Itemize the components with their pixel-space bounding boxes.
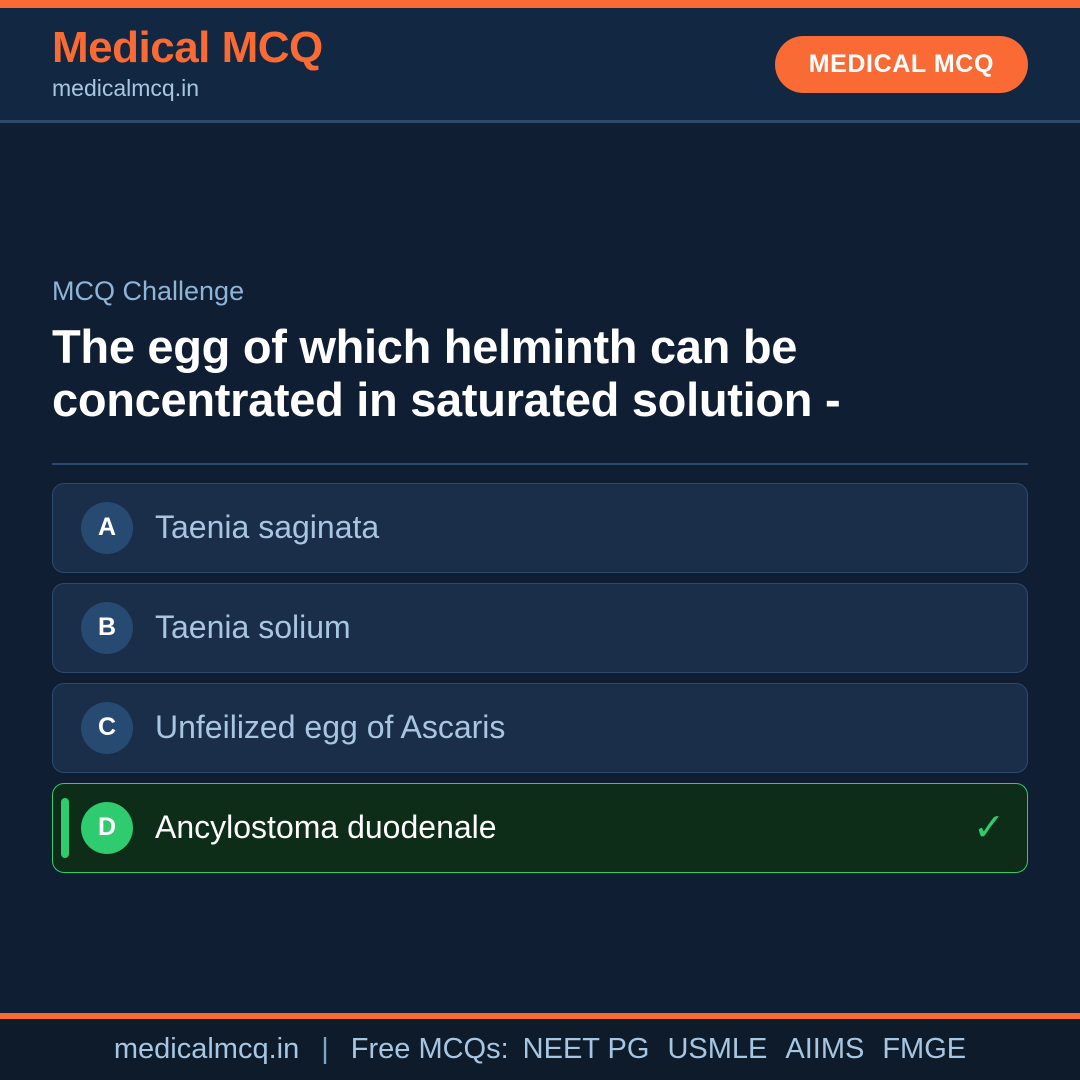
brand-block: Medical MCQ medicalmcq.in (52, 24, 323, 103)
header-badge: MEDICAL MCQ (775, 36, 1028, 93)
option-letter-badge-c: C (81, 702, 133, 754)
brand-subtitle: medicalmcq.in (52, 74, 323, 104)
option-letter-badge-b: B (81, 602, 133, 654)
option-row-d[interactable]: D Ancylostoma duodenale ✓ (52, 783, 1028, 873)
brand-title: Medical MCQ (52, 24, 323, 72)
footer-separator: | (321, 1033, 329, 1066)
option-label-c: Unfeilized egg of Ascaris (155, 708, 993, 746)
footer-label: Free MCQs: (351, 1033, 509, 1066)
page-header: Medical MCQ medicalmcq.in MEDICAL MCQ (0, 8, 1080, 123)
footer-exam-usmle[interactable]: USMLE (667, 1033, 767, 1066)
page-footer: medicalmcq.in | Free MCQs: NEET PG USMLE… (0, 1013, 1080, 1080)
option-label-d: Ancylostoma duodenale (155, 808, 961, 846)
footer-content: medicalmcq.in | Free MCQs: NEET PG USMLE… (114, 1033, 966, 1066)
option-label-a: Taenia saginata (155, 508, 993, 546)
top-accent-rule (0, 0, 1080, 8)
option-row-a[interactable]: A Taenia saginata (52, 483, 1028, 573)
footer-exam-neet-pg[interactable]: NEET PG (523, 1033, 650, 1066)
option-row-c[interactable]: C Unfeilized egg of Ascaris (52, 683, 1028, 773)
option-label-b: Taenia solium (155, 608, 993, 646)
question-eyebrow: MCQ Challenge (52, 275, 1028, 307)
option-letter-badge-a: A (81, 502, 133, 554)
option-letter-badge-d: D (81, 802, 133, 854)
footer-exam-aiims[interactable]: AIIMS (785, 1033, 864, 1066)
option-row-b[interactable]: B Taenia solium (52, 583, 1028, 673)
mcq-card: Medical MCQ medicalmcq.in MEDICAL MCQ MC… (0, 0, 1080, 1080)
main-content: MCQ Challenge The egg of which helminth … (0, 123, 1080, 1013)
footer-site-link[interactable]: medicalmcq.in (114, 1033, 299, 1066)
options-list: A Taenia saginata B Taenia solium C Unfe… (52, 483, 1028, 873)
footer-exam-fmge[interactable]: FMGE (882, 1033, 966, 1066)
question-text: The egg of which helminth can be concent… (52, 321, 1028, 426)
check-icon-d: ✓ (973, 809, 1005, 847)
question-divider (52, 463, 1028, 465)
